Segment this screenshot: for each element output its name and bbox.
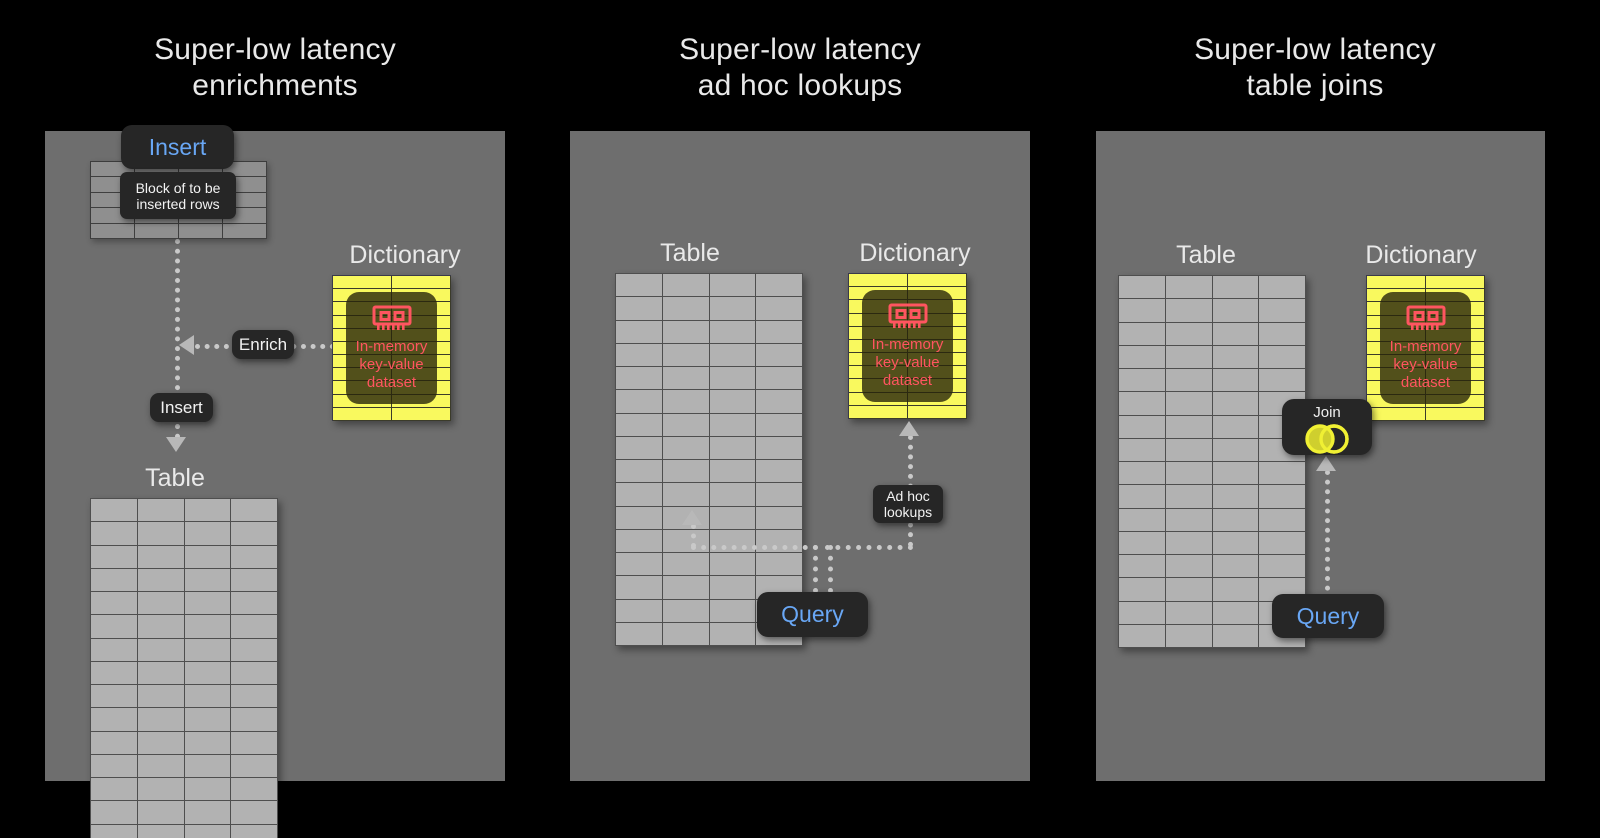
grid-cell — [756, 553, 803, 576]
grid-cell — [616, 553, 663, 576]
grid-cell — [663, 367, 710, 390]
grid-cell — [1166, 532, 1213, 555]
grid-cell — [1166, 346, 1213, 369]
grid-cell — [185, 755, 232, 778]
grid-cell — [710, 600, 757, 623]
grid-cell — [1259, 462, 1306, 485]
grid-cell — [231, 615, 278, 638]
grid-cell — [1119, 625, 1166, 648]
grid-cell — [710, 367, 757, 390]
grid-cell — [1213, 392, 1260, 415]
grid-cell — [138, 522, 185, 545]
grid-cell — [231, 778, 278, 801]
grid-cell — [91, 755, 138, 778]
grid-cell — [138, 662, 185, 685]
table-grid-lookups — [615, 273, 803, 646]
memory-chip-icon — [371, 302, 413, 338]
connector-query-left-horizontal — [691, 545, 818, 550]
label-dictionary-enrichments: Dictionary — [325, 241, 485, 270]
grid-cell — [1166, 602, 1213, 625]
grid-cell — [616, 437, 663, 460]
grid-cell — [392, 408, 451, 421]
grid-cell — [710, 390, 757, 413]
grid-cell — [138, 778, 185, 801]
grid-cell — [1213, 276, 1260, 299]
arrow-table-up — [682, 510, 702, 525]
table-grid-enrichments — [90, 498, 278, 838]
grid-cell — [1213, 462, 1260, 485]
grid-cell — [231, 708, 278, 731]
badge-enrich[interactable]: Enrich — [232, 330, 294, 359]
grid-cell — [663, 576, 710, 599]
dictionary-enrichments: In-memory key-value dataset — [332, 275, 451, 421]
grid-cell — [91, 708, 138, 731]
grid-cell — [1259, 555, 1306, 578]
arrow-enrich-left — [179, 335, 194, 355]
grid-cell — [1213, 625, 1260, 648]
grid-cell — [1166, 509, 1213, 532]
badge-ad-hoc-lookups[interactable]: Ad hoc lookups — [873, 485, 943, 523]
grid-cell — [756, 483, 803, 506]
grid-cell — [138, 546, 185, 569]
grid-cell — [1119, 323, 1166, 346]
grid-cell — [91, 615, 138, 638]
grid-cell — [1119, 532, 1166, 555]
grid-cell — [91, 592, 138, 615]
grid-cell — [231, 546, 278, 569]
grid-cell — [756, 507, 803, 530]
grid-cell — [1119, 462, 1166, 485]
grid-cell — [1259, 509, 1306, 532]
grid-cell — [1213, 485, 1260, 508]
grid-cell — [756, 297, 803, 320]
grid-cell — [1213, 346, 1260, 369]
grid-cell — [333, 276, 392, 289]
grid-cell — [710, 274, 757, 297]
dictionary-joins: In-memory key-value dataset — [1366, 275, 1485, 421]
grid-cell — [1259, 276, 1306, 299]
grid-cell — [91, 546, 138, 569]
grid-cell — [616, 367, 663, 390]
grid-cell — [185, 639, 232, 662]
badge-query-joins[interactable]: Query — [1272, 594, 1384, 638]
grid-cell — [138, 755, 185, 778]
grid-cell — [710, 483, 757, 506]
grid-cell — [663, 553, 710, 576]
grid-cell — [616, 390, 663, 413]
grid-cell — [185, 778, 232, 801]
grid-cell — [179, 224, 223, 239]
grid-cell — [1166, 485, 1213, 508]
grid-cell — [756, 274, 803, 297]
grid-cell — [1367, 276, 1426, 289]
grid-cell — [616, 460, 663, 483]
grid-cell — [1119, 485, 1166, 508]
arrow-join-up — [1316, 456, 1336, 471]
grid-cell — [185, 825, 232, 838]
grid-cell — [91, 639, 138, 662]
grid-cell — [1166, 578, 1213, 601]
grid-cell — [756, 390, 803, 413]
grid-cell — [138, 592, 185, 615]
grid-cell — [138, 615, 185, 638]
grid-cell — [1119, 276, 1166, 299]
table-grid-joins — [1118, 275, 1306, 648]
grid-cell — [849, 274, 908, 287]
grid-cell — [616, 530, 663, 553]
grid-cell — [756, 344, 803, 367]
grid-cell — [223, 224, 267, 239]
grid-cell — [1119, 369, 1166, 392]
label-dictionary-lookups: Dictionary — [835, 239, 995, 268]
grid-cell — [1166, 392, 1213, 415]
label-dictionary-joins: Dictionary — [1341, 241, 1501, 270]
grid-cell — [710, 576, 757, 599]
grid-cell — [1213, 555, 1260, 578]
panel-table-joins: Table Dictionary — [1096, 131, 1545, 781]
grid-cell — [1166, 416, 1213, 439]
grid-cell — [135, 224, 179, 239]
grid-cell — [1166, 555, 1213, 578]
dictionary-overlay: In-memory key-value dataset — [346, 292, 437, 404]
panel-ad-hoc-lookups: Table Dictionary — [570, 131, 1030, 781]
grid-cell — [710, 553, 757, 576]
grid-cell — [710, 321, 757, 344]
grid-cell — [616, 600, 663, 623]
grid-cell — [663, 390, 710, 413]
grid-cell — [185, 662, 232, 685]
grid-cell — [1166, 625, 1213, 648]
grid-cell — [710, 297, 757, 320]
grid-cell — [1119, 555, 1166, 578]
grid-cell — [1259, 485, 1306, 508]
grid-cell — [1166, 369, 1213, 392]
grid-cell — [663, 623, 710, 646]
grid-cell — [231, 801, 278, 824]
dictionary-overlay: In-memory key-value dataset — [1380, 292, 1471, 404]
label-table-lookups: Table — [645, 239, 735, 268]
grid-cell — [185, 732, 232, 755]
grid-cell — [138, 499, 185, 522]
grid-cell — [849, 406, 908, 419]
grid-cell — [138, 685, 185, 708]
connector-query-right-horizontal — [825, 545, 913, 550]
grid-cell — [138, 708, 185, 731]
grid-cell — [1119, 509, 1166, 532]
label-table-joins: Table — [1161, 241, 1251, 270]
connector-query-join-vertical — [1325, 470, 1330, 610]
grid-cell — [616, 297, 663, 320]
grid-cell — [756, 367, 803, 390]
memory-chip-icon — [1405, 302, 1447, 338]
grid-cell — [616, 483, 663, 506]
grid-cell — [908, 406, 967, 419]
grid-cell — [663, 437, 710, 460]
grid-cell — [663, 344, 710, 367]
grid-cell — [616, 274, 663, 297]
grid-cell — [1119, 439, 1166, 462]
dictionary-lookups: In-memory key-value dataset — [848, 273, 967, 419]
grid-cell — [91, 732, 138, 755]
grid-cell — [663, 600, 710, 623]
panel-title-enrichments: Super-low latency enrichments — [45, 32, 505, 104]
grid-cell — [231, 569, 278, 592]
grid-cell — [333, 408, 392, 421]
grid-cell — [663, 460, 710, 483]
grid-cell — [185, 522, 232, 545]
grid-cell — [710, 344, 757, 367]
badge-insert-bottom[interactable]: Insert — [150, 393, 213, 422]
grid-cell — [91, 801, 138, 824]
badge-insert-top[interactable]: Insert — [121, 125, 234, 169]
grid-cell — [1259, 532, 1306, 555]
grid-cell — [1259, 299, 1306, 322]
grid-cell — [1213, 602, 1260, 625]
grid-cell — [185, 801, 232, 824]
badge-join-label: Join — [1313, 404, 1341, 421]
grid-cell — [1213, 369, 1260, 392]
grid-cell — [91, 499, 138, 522]
connector-query-right-stub — [828, 545, 833, 593]
grid-cell — [1259, 323, 1306, 346]
dictionary-overlay-text: In-memory key-value dataset — [872, 336, 944, 390]
panel-title-table-joins: Super-low latency table joins — [1085, 32, 1545, 104]
grid-cell — [91, 685, 138, 708]
grid-cell — [138, 569, 185, 592]
diagram-canvas: Super-low latency enrichments Insert Blo… — [0, 0, 1600, 838]
grid-cell — [710, 414, 757, 437]
grid-cell — [616, 321, 663, 344]
grid-cell — [1119, 602, 1166, 625]
grid-cell — [91, 825, 138, 838]
memory-chip-icon — [887, 300, 929, 336]
grid-cell — [616, 344, 663, 367]
label-table-enrichments: Table — [130, 464, 220, 493]
grid-cell — [91, 662, 138, 685]
grid-cell — [1166, 439, 1213, 462]
grid-cell — [185, 569, 232, 592]
venn-join-icon — [1296, 421, 1358, 455]
grid-cell — [1213, 416, 1260, 439]
grid-cell — [185, 499, 232, 522]
grid-cell — [1213, 509, 1260, 532]
arrow-insert-down — [166, 437, 186, 452]
grid-cell — [91, 224, 135, 239]
grid-cell — [1213, 323, 1260, 346]
arrow-dictionary-up — [899, 421, 919, 436]
badge-block-of-rows[interactable]: Block of to be inserted rows — [120, 172, 236, 219]
grid-cell — [1119, 392, 1166, 415]
grid-cell — [616, 507, 663, 530]
grid-cell — [91, 522, 138, 545]
grid-cell — [138, 732, 185, 755]
grid-cell — [663, 297, 710, 320]
grid-cell — [908, 274, 967, 287]
grid-cell — [1166, 299, 1213, 322]
grid-cell — [138, 801, 185, 824]
grid-cell — [185, 546, 232, 569]
connector-query-left-stub — [813, 545, 818, 593]
grid-cell — [663, 321, 710, 344]
grid-cell — [185, 708, 232, 731]
grid-cell — [663, 414, 710, 437]
grid-cell — [231, 662, 278, 685]
grid-cell — [1213, 532, 1260, 555]
grid-cell — [1119, 346, 1166, 369]
grid-cell — [231, 732, 278, 755]
grid-cell — [392, 276, 451, 289]
panel-enrichments: Insert Block of to be inserted rows Enri… — [45, 131, 505, 781]
grid-cell — [616, 576, 663, 599]
grid-cell — [756, 414, 803, 437]
grid-cell — [756, 321, 803, 344]
grid-cell — [1426, 408, 1485, 421]
grid-cell — [231, 685, 278, 708]
grid-cell — [138, 639, 185, 662]
grid-cell — [1119, 299, 1166, 322]
dictionary-overlay: In-memory key-value dataset — [862, 290, 953, 402]
grid-cell — [1166, 323, 1213, 346]
grid-cell — [663, 274, 710, 297]
grid-cell — [756, 437, 803, 460]
grid-cell — [1259, 369, 1306, 392]
grid-cell — [1119, 416, 1166, 439]
grid-cell — [185, 592, 232, 615]
grid-cell — [1119, 578, 1166, 601]
grid-cell — [663, 483, 710, 506]
grid-cell — [616, 623, 663, 646]
grid-cell — [1213, 578, 1260, 601]
grid-cell — [756, 460, 803, 483]
grid-cell — [231, 639, 278, 662]
grid-cell — [185, 685, 232, 708]
grid-cell — [231, 755, 278, 778]
grid-cell — [710, 460, 757, 483]
grid-cell — [1426, 276, 1485, 289]
badge-query-lookups[interactable]: Query — [757, 592, 868, 637]
dictionary-overlay-text: In-memory key-value dataset — [1390, 338, 1462, 392]
grid-cell — [616, 414, 663, 437]
grid-cell — [91, 778, 138, 801]
grid-cell — [1213, 299, 1260, 322]
grid-cell — [710, 437, 757, 460]
grid-cell — [1213, 439, 1260, 462]
dictionary-overlay-text: In-memory key-value dataset — [356, 338, 428, 392]
grid-cell — [185, 615, 232, 638]
badge-join[interactable]: Join — [1282, 399, 1372, 455]
grid-cell — [231, 592, 278, 615]
grid-cell — [710, 623, 757, 646]
grid-cell — [231, 522, 278, 545]
grid-cell — [1166, 276, 1213, 299]
grid-cell — [91, 569, 138, 592]
grid-cell — [231, 825, 278, 838]
grid-cell — [1166, 462, 1213, 485]
grid-cell — [1367, 408, 1426, 421]
panel-title-ad-hoc-lookups: Super-low latency ad hoc lookups — [570, 32, 1030, 104]
connector-table-vertical — [691, 524, 696, 548]
grid-cell — [231, 499, 278, 522]
grid-cell — [138, 825, 185, 838]
grid-cell — [710, 507, 757, 530]
grid-cell — [1259, 346, 1306, 369]
